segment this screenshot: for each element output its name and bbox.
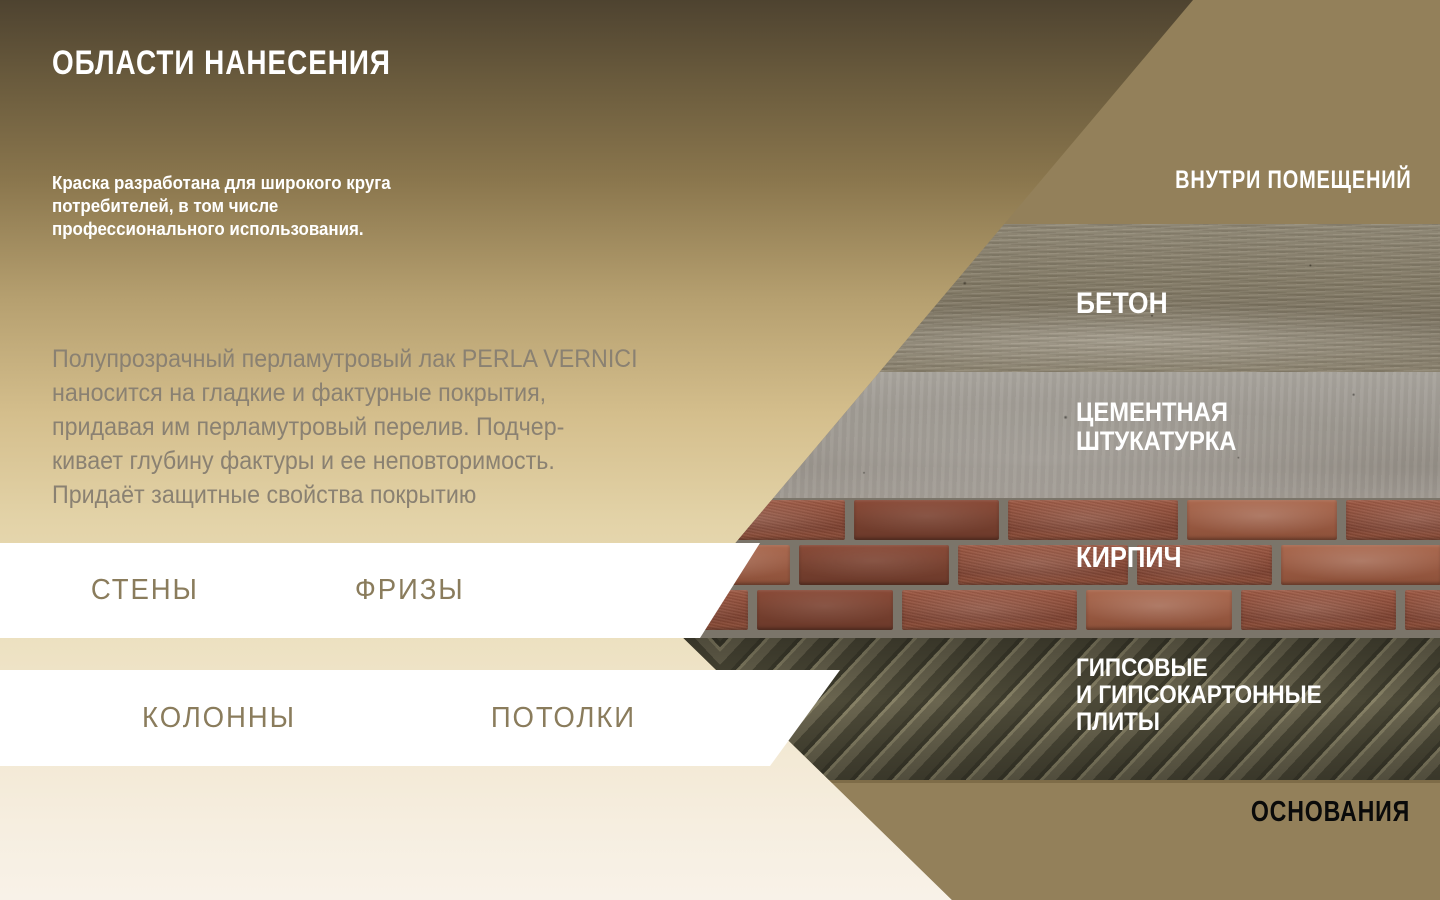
application-label-walls: СТЕНЫ — [91, 574, 199, 607]
application-label-ceilings: ПОТОЛКИ — [491, 702, 636, 735]
poster-canvas: ОБЛАСТИ НАНЕСЕНИЯ Краска разработана для… — [0, 0, 1440, 900]
base-khaki-band — [0, 780, 1440, 900]
application-label-columns: КОЛОННЫ — [142, 702, 296, 735]
material-label-concrete: БЕТОН — [1076, 288, 1168, 320]
intro-paragraph: Краска разработана для широкого круга по… — [52, 172, 447, 241]
application-bar-1: СТЕНЫ ФРИЗЫ — [0, 543, 760, 638]
body-copy-line: кивает глубину фактуры и ее неповторимос… — [52, 444, 796, 478]
material-label-gypsum-board: ГИПСОВЫЕ И ГИПСОКАРТОННЫЕ ПЛИТЫ — [1076, 655, 1322, 736]
material-label-brick: КИРПИЧ — [1076, 543, 1182, 574]
body-copy-line: придавая им перламутровый перелив. Подче… — [52, 410, 796, 444]
indoor-heading: ВНУТРИ ПОМЕЩЕНИЙ — [1176, 167, 1412, 194]
application-label-friezes: ФРИЗЫ — [355, 574, 465, 607]
body-copy: Полупрозрачный перламутровый лак PERLA V… — [52, 342, 796, 512]
substrates-footer: ОСНОВАНИЯ — [1251, 796, 1410, 829]
material-label-cement-plaster: ЦЕМЕНТНАЯ ШТУКАТУРКА — [1076, 398, 1236, 456]
application-bar-2: КОЛОННЫ ПОТОЛКИ — [0, 670, 840, 766]
page-title: ОБЛАСТИ НАНЕСЕНИЯ — [52, 44, 391, 83]
body-copy-line: Придаёт защитные свойства покрытию — [52, 478, 796, 512]
body-copy-line: Полупрозрачный перламутровый лак PERLA V… — [52, 342, 796, 376]
body-copy-line: наносится на гладкие и фактурные покрыти… — [52, 376, 796, 410]
